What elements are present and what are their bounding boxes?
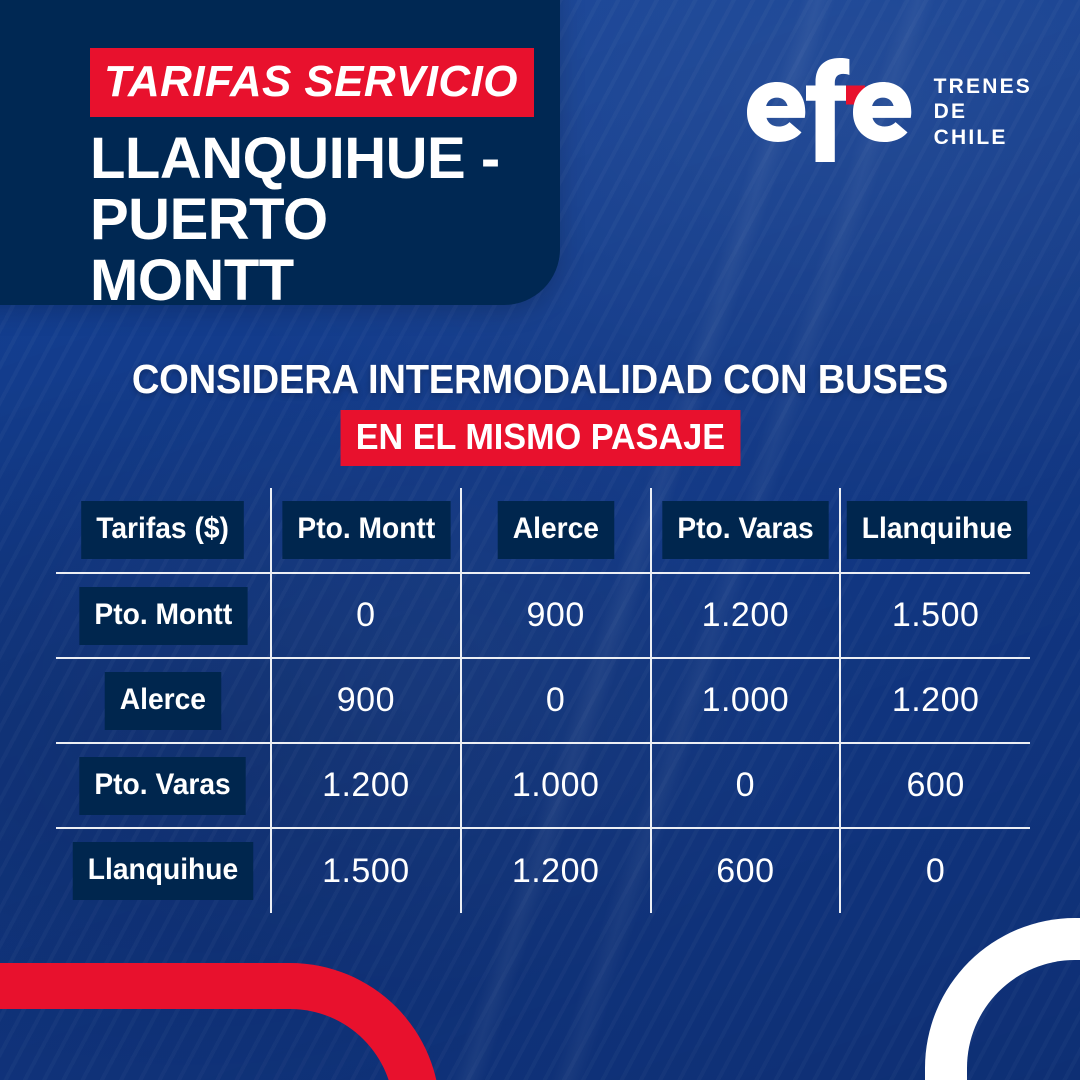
fare-value: 1.000: [512, 766, 600, 804]
header-label-alerce: Alerce: [497, 501, 613, 559]
row-label: Alerce: [105, 672, 221, 730]
row-label: Llanquihue: [73, 842, 253, 900]
table-row: Pto. Varas 1.200 1.000 0 600: [56, 743, 1030, 828]
fare-cell: 1.500: [840, 573, 1030, 658]
fare-value: 0: [926, 852, 945, 890]
fare-cell: 0: [840, 828, 1030, 913]
fare-cell: 600: [651, 828, 841, 913]
table-row: Alerce 900 0 1.000 1.200: [56, 658, 1030, 743]
row-label-cell: Pto. Varas: [56, 743, 271, 828]
fare-table-body: Pto. Montt 0 900 1.200 1.500: [56, 573, 1030, 913]
fare-cell: 1.200: [271, 743, 461, 828]
efe-tagline-line-2: DE: [934, 99, 1032, 125]
fare-value: 1.200: [512, 852, 600, 890]
table-row: Llanquihue 1.500 1.200 600 0: [56, 828, 1030, 913]
efe-tagline-line-1: TRENES: [934, 74, 1032, 100]
fare-value: 900: [337, 681, 395, 719]
fare-value: 1.000: [702, 681, 790, 719]
efe-logo-tagline: TRENES DE CHILE: [934, 70, 1032, 151]
poster-canvas: TARIFAS SERVICIO LLANQUIHUE - PUERTO MON…: [0, 0, 1080, 1080]
efe-wordmark-icon: [744, 58, 912, 162]
fare-value: 1.200: [702, 596, 790, 634]
header-cell-llanquihue: Llanquihue: [840, 488, 1030, 573]
fare-value: 900: [527, 596, 585, 634]
page-title-line-2: PUERTO MONTT: [90, 190, 536, 312]
fare-value: 0: [546, 681, 565, 719]
fare-value: 0: [736, 766, 755, 804]
fare-value: 1.500: [892, 596, 980, 634]
fare-cell: 900: [271, 658, 461, 743]
fare-cell: 1.200: [840, 658, 1030, 743]
fare-value: 0: [356, 596, 375, 634]
header-cell-corner: Tarifas ($): [56, 488, 271, 573]
efe-tagline-line-3: CHILE: [934, 125, 1032, 151]
header-cell-pto-montt: Pto. Montt: [271, 488, 461, 573]
fare-cell: 1.500: [271, 828, 461, 913]
row-label: Pto. Montt: [79, 587, 247, 645]
fare-value: 1.500: [322, 852, 410, 890]
page-title-line-1: LLANQUIHUE -: [90, 129, 536, 190]
table-header-row: Tarifas ($) Pto. Montt Alerce Pto. Varas…: [56, 488, 1030, 573]
efe-logo: TRENES DE CHILE: [744, 58, 1032, 162]
subtitle-primary: CONSIDERA INTERMODALIDAD CON BUSES: [38, 358, 1042, 401]
row-label-cell: Llanquihue: [56, 828, 271, 913]
fare-cell: 0: [651, 743, 841, 828]
title-card-content: TARIFAS SERVICIO LLANQUIHUE - PUERTO MON…: [90, 48, 536, 312]
subtitle-block: CONSIDERA INTERMODALIDAD CON BUSES EN EL…: [0, 358, 1080, 466]
fare-value: 1.200: [892, 681, 980, 719]
fare-matrix: Tarifas ($) Pto. Montt Alerce Pto. Varas…: [56, 488, 1030, 913]
header-label-pto-montt: Pto. Montt: [282, 501, 450, 559]
header-label-corner: Tarifas ($): [82, 501, 245, 559]
page-title: LLANQUIHUE - PUERTO MONTT: [90, 129, 536, 312]
fare-cell: 1.200: [651, 573, 841, 658]
table-row: Pto. Montt 0 900 1.200 1.500: [56, 573, 1030, 658]
subtitle-badge: EN EL MISMO PASAJE: [340, 410, 740, 466]
header-cell-pto-varas: Pto. Varas: [651, 488, 841, 573]
fare-cell: 1.000: [651, 658, 841, 743]
header-label-pto-varas: Pto. Varas: [662, 501, 828, 559]
row-label-cell: Pto. Montt: [56, 573, 271, 658]
fare-cell: 0: [461, 658, 651, 743]
fare-cell: 0: [271, 573, 461, 658]
fare-cell: 900: [461, 573, 651, 658]
row-label-cell: Alerce: [56, 658, 271, 743]
fare-value: 600: [907, 766, 965, 804]
fare-value: 600: [716, 852, 774, 890]
fare-table-head: Tarifas ($) Pto. Montt Alerce Pto. Varas…: [56, 488, 1030, 573]
fare-cell: 1.200: [461, 828, 651, 913]
eyebrow-badge: TARIFAS SERVICIO: [90, 48, 534, 117]
fare-cell: 600: [840, 743, 1030, 828]
fare-value: 1.200: [322, 766, 410, 804]
row-label: Pto. Varas: [80, 757, 246, 815]
title-card: TARIFAS SERVICIO LLANQUIHUE - PUERTO MON…: [0, 0, 560, 305]
header-label-llanquihue: Llanquihue: [847, 501, 1027, 559]
header-cell-alerce: Alerce: [461, 488, 651, 573]
fare-cell: 1.000: [461, 743, 651, 828]
fare-table: Tarifas ($) Pto. Montt Alerce Pto. Varas…: [56, 488, 1030, 913]
